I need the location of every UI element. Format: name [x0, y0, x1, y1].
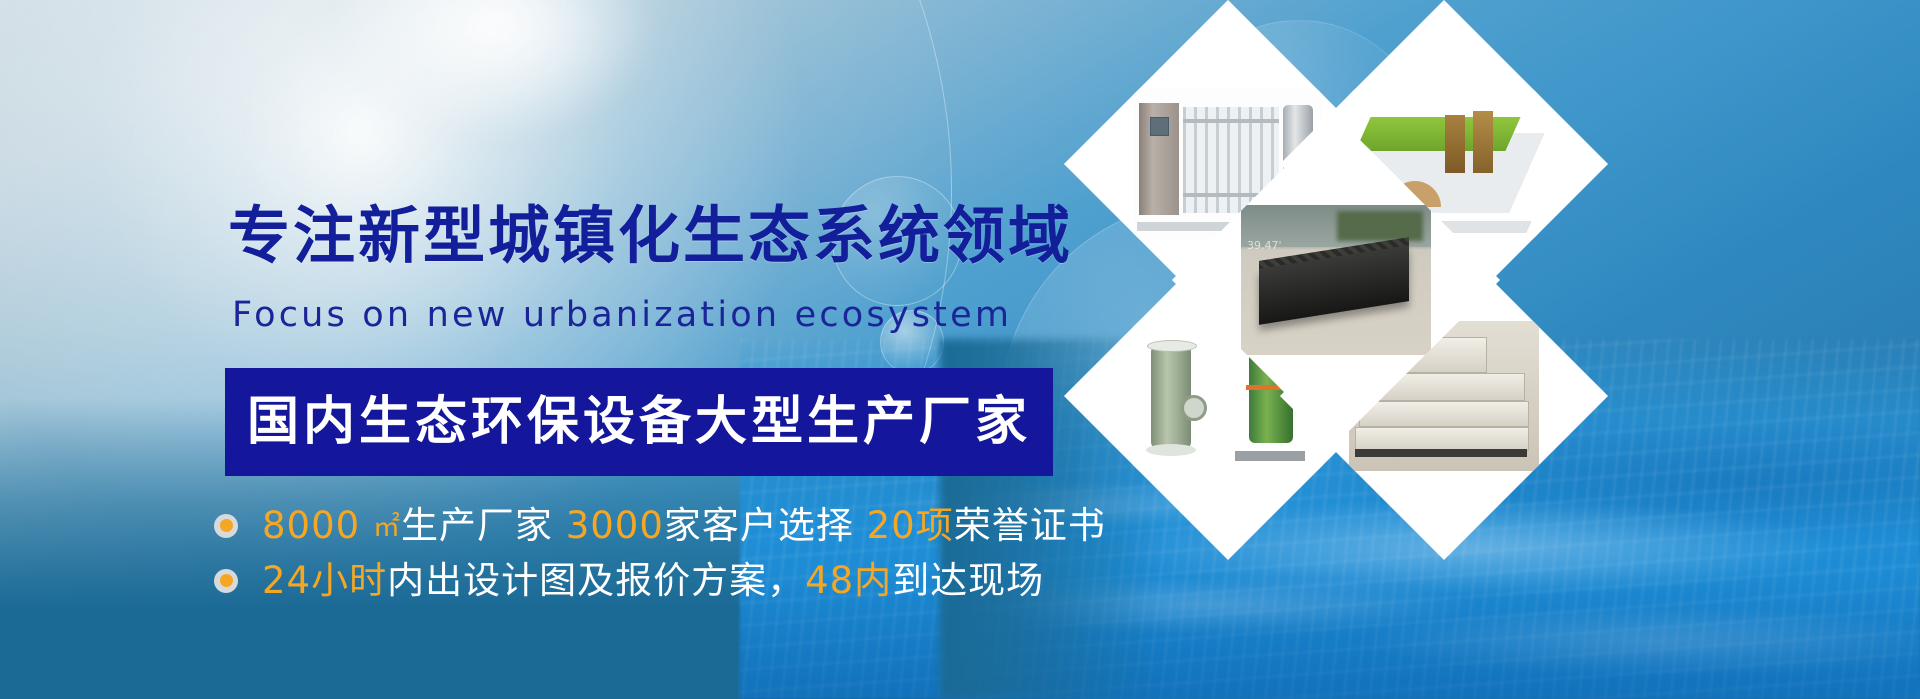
promo-banner: 39.47' 专注新型城镇化 — [0, 0, 1920, 699]
tank-dimension-label-a: 39.47' — [1247, 239, 1282, 252]
photo-modular-black-tank: 39.47' — [1241, 205, 1431, 355]
list-item: 8000 ㎡生产厂家 3000家客户选择 20项荣誉证书 — [214, 498, 1106, 553]
list-item: 24小时内出设计图及报价方案，48内到达现场 — [214, 553, 1106, 608]
banner-bullet-list: 8000 ㎡生产厂家 3000家客户选择 20项荣誉证书 24小时内出设计图及报… — [214, 498, 1106, 608]
tank-shape — [1445, 115, 1465, 173]
banner-subheadline: Focus on new urbanization ecosystem — [232, 298, 1012, 333]
bullet-text: 8000 ㎡生产厂家 3000家客户选择 20项荣誉证书 — [262, 507, 1106, 544]
banner-copy: 专注新型城镇化生态系统领域 Focus on new urbanization … — [0, 0, 1100, 699]
bullet-dot-icon — [214, 514, 238, 538]
product-diamond-collage: 39.47' — [1090, 38, 1590, 638]
panel-shape — [1359, 401, 1529, 427]
banner-highlight-bar-text: 国内生态环保设备大型生产厂家 — [247, 396, 1031, 448]
control-cabinet-shape — [1139, 103, 1179, 215]
bullet-text: 24小时内出设计图及报价方案，48内到达现场 — [262, 562, 1044, 599]
inlet-port-shape — [1181, 395, 1207, 421]
banner-headline: 专注新型城镇化生态系统领域 — [228, 205, 1073, 267]
green-roof-shape — [1355, 117, 1520, 151]
panel-shape — [1355, 427, 1529, 451]
tank-shape — [1473, 111, 1493, 173]
banner-highlight-bar: 国内生态环保设备大型生产厂家 — [225, 368, 1053, 476]
panel-shadow-shape — [1355, 449, 1527, 457]
base-plinth-shape — [1235, 451, 1305, 461]
tree-line-shape — [1337, 211, 1423, 241]
bullet-dot-icon — [214, 569, 238, 593]
